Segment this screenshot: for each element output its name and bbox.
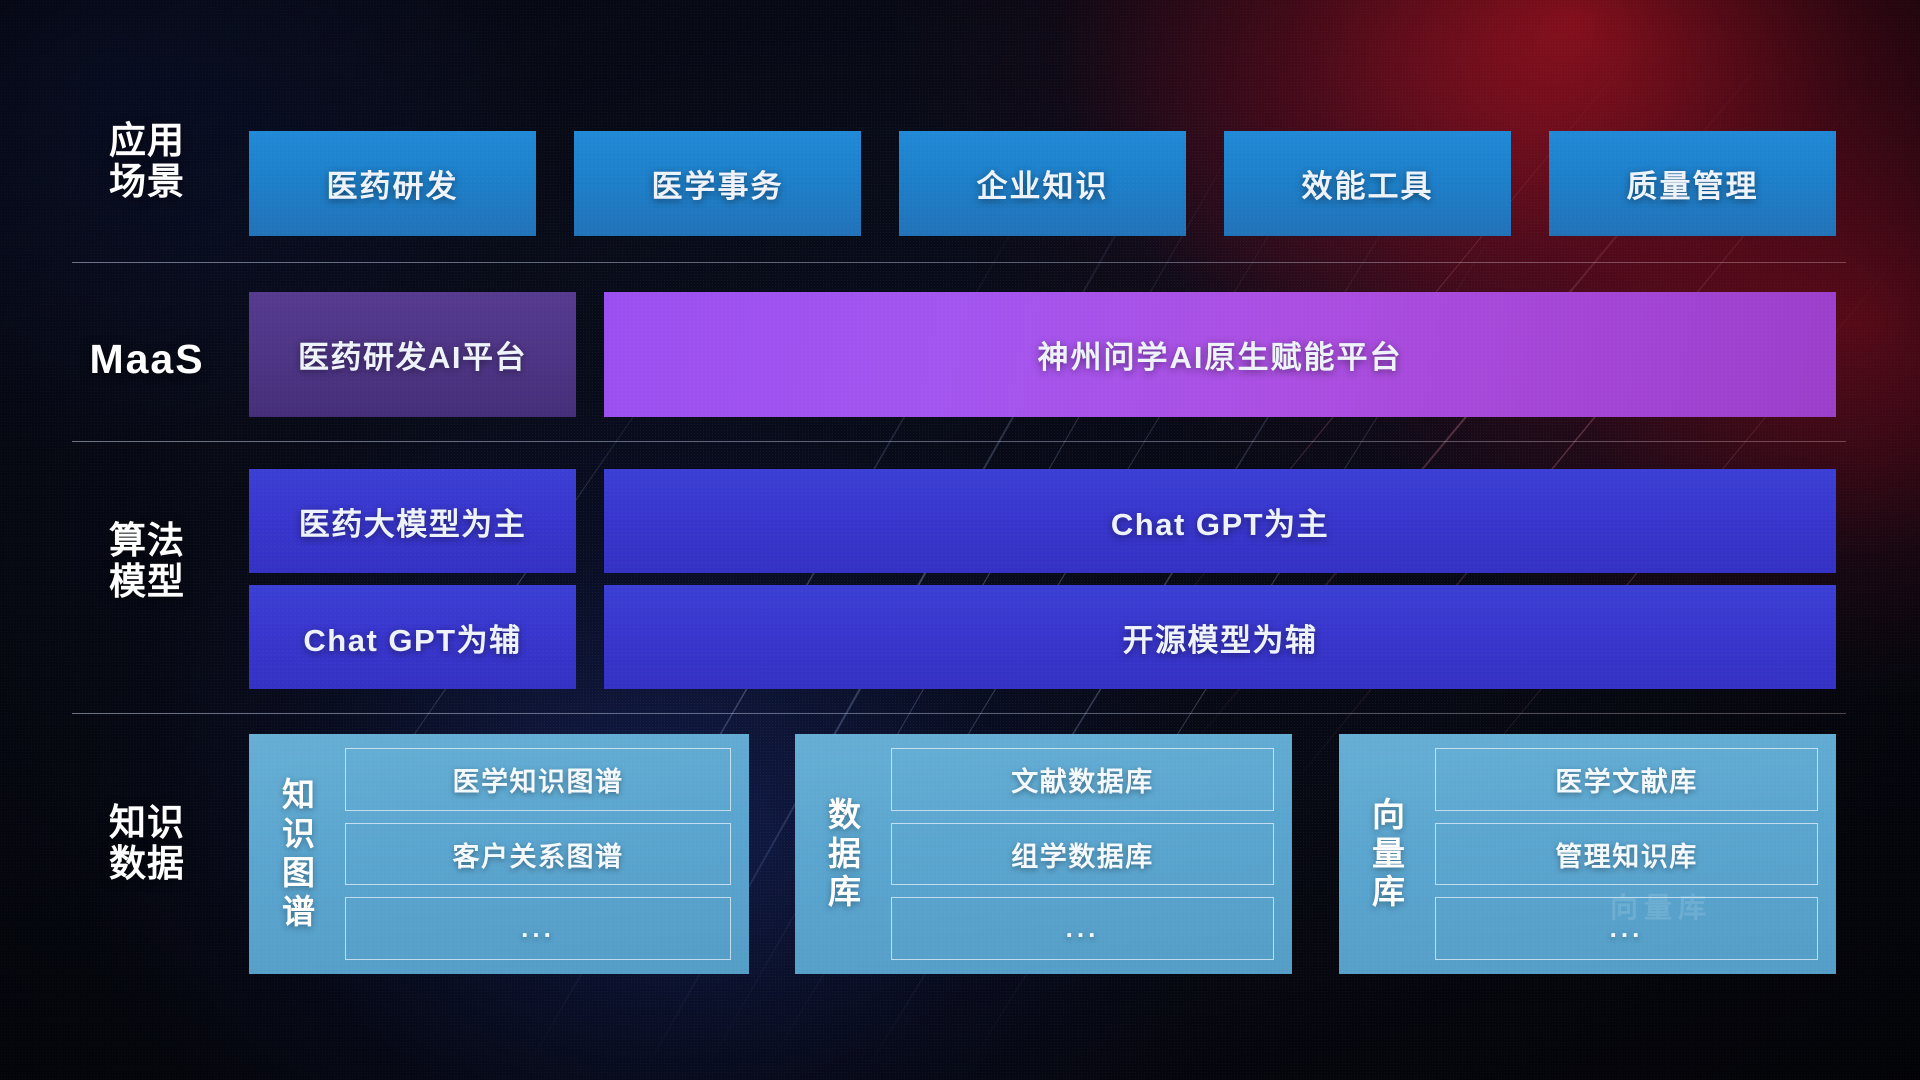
divider-1 (72, 262, 1846, 263)
architecture-diagram: 应用 场景 医药研发 医学事务 企业知识 效能工具 质量管理 MaaS 医药研发… (0, 0, 1920, 1080)
app-box-enterprise-knowledge[interactable]: 企业知识 (899, 131, 1186, 236)
algo-box-medicine-llm-primary[interactable]: 医药大模型为主 (249, 469, 576, 573)
row-label-knowledge-data: 知识 数据 (72, 802, 222, 885)
maas-box-shenzhou-wenxue-platform[interactable]: 神州问学AI原生赋能平台 (604, 292, 1836, 417)
knowledge-group-label-database: 数 据 库 (809, 748, 881, 960)
knowledge-item-more-knowledge-graph[interactable]: ... (345, 897, 731, 960)
maas-box-medicine-rd-ai-platform[interactable]: 医药研发AI平台 (249, 292, 576, 417)
knowledge-group-database[interactable]: 数 据 库 文献数据库 组学数据库 ... (795, 734, 1292, 974)
app-box-medical-affairs[interactable]: 医学事务 (574, 131, 861, 236)
row-label-algorithm-models: 算法 模型 (72, 520, 222, 603)
divider-2 (72, 441, 1846, 442)
app-box-medicine-rd[interactable]: 医药研发 (249, 131, 536, 236)
knowledge-item-literature-database[interactable]: 文献数据库 (891, 748, 1274, 811)
knowledge-group-items-vector-store: 医学文献库 管理知识库 ... (1435, 748, 1818, 960)
knowledge-item-more-vector-store[interactable]: ... (1435, 897, 1818, 960)
knowledge-group-knowledge-graph[interactable]: 知 识 图 谱 医学知识图谱 客户关系图谱 ... (249, 734, 749, 974)
algo-box-opensource-secondary[interactable]: 开源模型为辅 (604, 585, 1836, 689)
knowledge-group-label-vector-store: 向 量 库 (1353, 748, 1425, 960)
knowledge-item-customer-relation-graph[interactable]: 客户关系图谱 (345, 823, 731, 886)
knowledge-group-items-knowledge-graph: 医学知识图谱 客户关系图谱 ... (345, 748, 731, 960)
knowledge-group-items-database: 文献数据库 组学数据库 ... (891, 748, 1274, 960)
knowledge-item-management-knowledge-store[interactable]: 管理知识库 (1435, 823, 1818, 886)
algo-box-chatgpt-primary[interactable]: Chat GPT为主 (604, 469, 1836, 573)
knowledge-item-more-database[interactable]: ... (891, 897, 1274, 960)
divider-3 (72, 713, 1846, 714)
knowledge-item-medical-knowledge-graph[interactable]: 医学知识图谱 (345, 748, 731, 811)
app-box-efficiency-tools[interactable]: 效能工具 (1224, 131, 1511, 236)
row-label-maas: MaaS (72, 337, 222, 383)
knowledge-group-vector-store[interactable]: 向 量 库 医学文献库 管理知识库 ... (1339, 734, 1836, 974)
algo-box-chatgpt-secondary[interactable]: Chat GPT为辅 (249, 585, 576, 689)
knowledge-item-medical-literature-store[interactable]: 医学文献库 (1435, 748, 1818, 811)
app-box-quality-management[interactable]: 质量管理 (1549, 131, 1836, 236)
row-label-application-scenarios: 应用 场景 (72, 120, 222, 203)
knowledge-group-label-knowledge-graph: 知 识 图 谱 (263, 748, 335, 960)
knowledge-item-omics-database[interactable]: 组学数据库 (891, 823, 1274, 886)
